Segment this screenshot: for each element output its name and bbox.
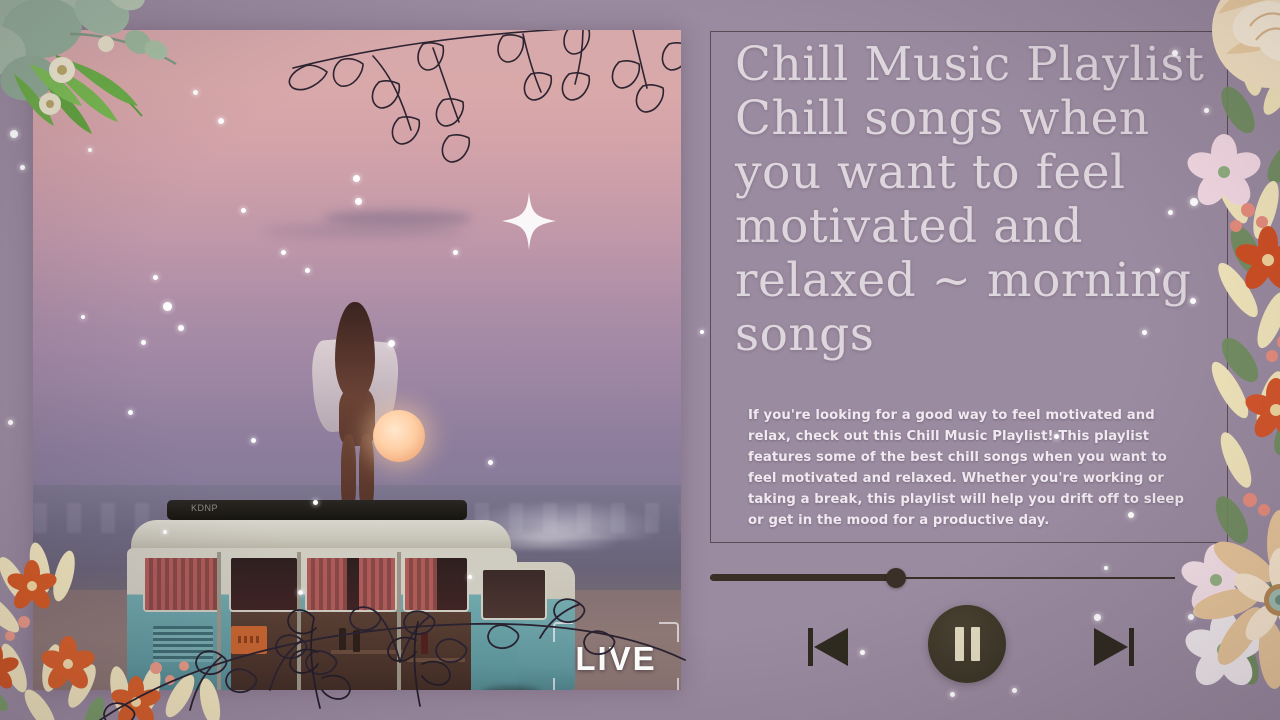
badge-corner-icon: [659, 678, 679, 690]
sparkle: [20, 165, 25, 170]
hair: [335, 302, 375, 398]
badge-corner-icon: [553, 622, 573, 642]
description-paragraph: If you're looking for a good way to feel…: [748, 405, 1200, 531]
pause-icon: [971, 627, 980, 661]
van-window: [481, 568, 547, 620]
progress-knob[interactable]: [886, 568, 906, 588]
pause-icon: [955, 627, 964, 661]
bottle: [339, 628, 346, 650]
cloud: [263, 225, 463, 237]
van-window: [229, 556, 299, 612]
van-door-seam: [217, 552, 221, 690]
leg-right: [359, 434, 374, 510]
van-door-seam: [297, 552, 301, 690]
sparkle: [700, 330, 704, 334]
sparkle: [8, 420, 13, 425]
page-title: Chill Music Playlist Chill songs when yo…: [735, 38, 1205, 362]
skip-previous-icon: [800, 622, 856, 672]
shelf: [331, 650, 403, 654]
roof-rack-label: KDNP: [191, 503, 218, 513]
shelf: [407, 658, 465, 662]
badge-corner-icon: [553, 678, 573, 690]
van-vent: [153, 626, 213, 662]
live-label: LIVE: [553, 640, 679, 678]
van-door-seam: [397, 552, 401, 690]
transport-controls: [700, 605, 1180, 715]
skip-next-icon: [1086, 622, 1142, 672]
curtain: [405, 558, 437, 610]
bottle: [421, 632, 428, 654]
sparkle: [1188, 614, 1194, 620]
curtain: [145, 558, 219, 610]
curtain: [359, 558, 395, 610]
leg-left: [341, 434, 356, 510]
woman-silhouette: [301, 302, 411, 502]
curtain: [307, 558, 347, 610]
glowing-moon-orb: [373, 410, 425, 462]
play-pause-button[interactable]: [928, 605, 1006, 683]
album-photo[interactable]: KDNP: [33, 30, 681, 690]
cloud: [323, 210, 473, 226]
live-badge: LIVE: [553, 622, 679, 690]
progress-bar[interactable]: [710, 570, 1175, 586]
bottle: [353, 630, 360, 652]
sparkle: [10, 130, 18, 138]
van-sticker: [231, 626, 267, 654]
next-button[interactable]: [1086, 622, 1142, 672]
progress-fill: [710, 574, 896, 581]
slide-canvas: KDNP: [0, 0, 1280, 720]
camper-van: KDNP: [91, 500, 601, 690]
previous-button[interactable]: [800, 622, 856, 672]
badge-corner-icon: [659, 622, 679, 642]
